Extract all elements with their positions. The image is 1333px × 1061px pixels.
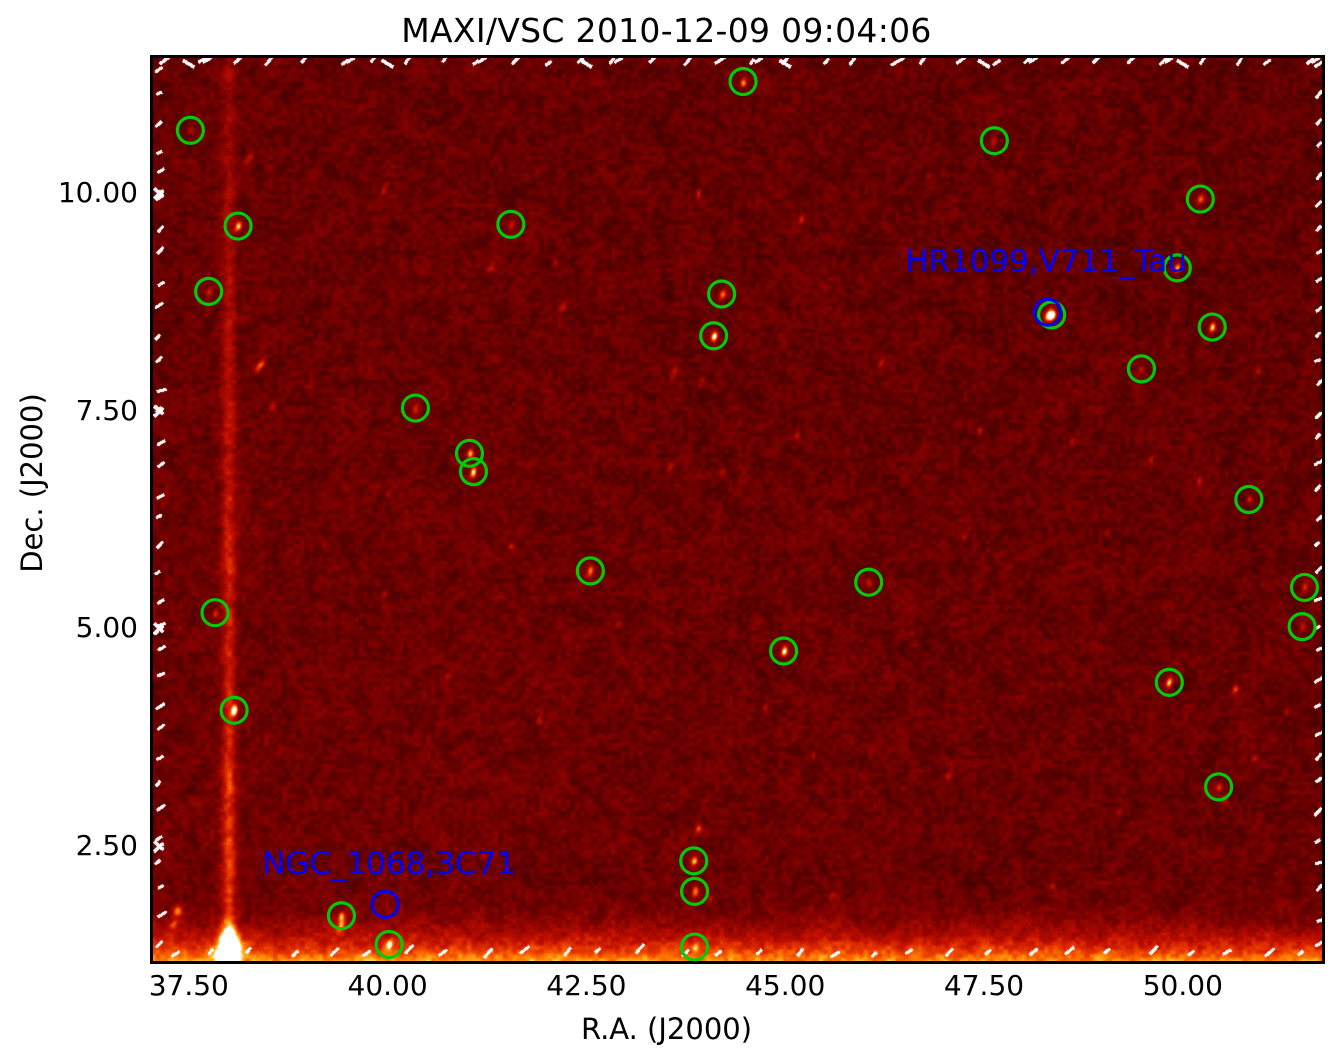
detection-circle-marker[interactable] — [709, 281, 735, 307]
x-axis-tick-label: 42.50 — [516, 971, 656, 1001]
detection-circle-marker[interactable] — [1292, 574, 1318, 600]
detection-circle-marker[interactable] — [577, 558, 603, 584]
x-axis-title: R.A. (J2000) — [0, 1012, 1333, 1046]
detection-circle-marker[interactable] — [730, 69, 756, 95]
detection-circle-marker[interactable] — [682, 934, 708, 960]
y-axis-title: Dec. (J2000) — [15, 333, 49, 633]
detection-circle-marker[interactable] — [1156, 669, 1182, 695]
y-axis-tick-label: 5.00 — [48, 613, 138, 643]
detection-circle-marker[interactable] — [1128, 356, 1154, 382]
x-axis-tick-label: 45.00 — [715, 971, 855, 1001]
detection-circle-marker[interactable] — [701, 323, 727, 349]
detection-circle-marker[interactable] — [856, 569, 882, 595]
source-label-annotation: NGC_1068,3C71 — [262, 846, 516, 882]
marker-overlay: HR1099,V711_TauNGC_1068,3C71 — [153, 58, 1322, 961]
detection-circle-marker[interactable] — [681, 848, 707, 874]
detection-circle-marker[interactable] — [457, 440, 483, 466]
y-axis-tick-label: 10.00 — [48, 178, 138, 208]
detection-circle-marker[interactable] — [1199, 314, 1225, 340]
detection-circle-marker[interactable] — [225, 213, 251, 239]
detection-circle-marker[interactable] — [1206, 774, 1232, 800]
detection-circle-marker[interactable] — [402, 395, 428, 421]
detection-circle-marker[interactable] — [498, 211, 524, 237]
y-axis-tick-label: 2.50 — [48, 831, 138, 861]
detection-circle-marker[interactable] — [177, 117, 203, 143]
figure-canvas: MAXI/VSC 2010-12-09 09:04:06 HR1099,V711… — [0, 0, 1333, 1061]
detection-circle-marker[interactable] — [1236, 486, 1262, 512]
detection-circle-marker[interactable] — [376, 931, 402, 957]
x-axis-tick-label: 37.50 — [119, 971, 259, 1001]
detection-circle-marker[interactable] — [1187, 186, 1213, 212]
sky-image: HR1099,V711_TauNGC_1068,3C71 — [153, 58, 1322, 961]
detection-circle-marker[interactable] — [202, 600, 228, 626]
source-label-annotation: HR1099,V711_Tau — [905, 243, 1187, 279]
x-axis-tick-label: 40.00 — [318, 971, 458, 1001]
detection-circle-marker[interactable] — [221, 697, 247, 723]
detection-circle-marker[interactable] — [981, 128, 1007, 154]
x-axis-tick-label: 50.00 — [1113, 971, 1253, 1001]
detection-circle-marker[interactable] — [682, 878, 708, 904]
x-axis-tick-label: 47.50 — [914, 971, 1054, 1001]
catalog-source-circle-marker[interactable] — [372, 891, 398, 917]
detection-circle-marker[interactable] — [196, 278, 222, 304]
figure-title: MAXI/VSC 2010-12-09 09:04:06 — [0, 8, 1333, 54]
detection-circle-marker[interactable] — [328, 903, 354, 929]
detection-circle-marker[interactable] — [1289, 614, 1315, 640]
sky-image-plot-area[interactable]: HR1099,V711_TauNGC_1068,3C71 — [153, 58, 1322, 961]
detection-circle-marker[interactable] — [460, 459, 486, 485]
detection-circle-marker[interactable] — [771, 638, 797, 664]
y-axis-tick-label: 7.50 — [48, 396, 138, 426]
